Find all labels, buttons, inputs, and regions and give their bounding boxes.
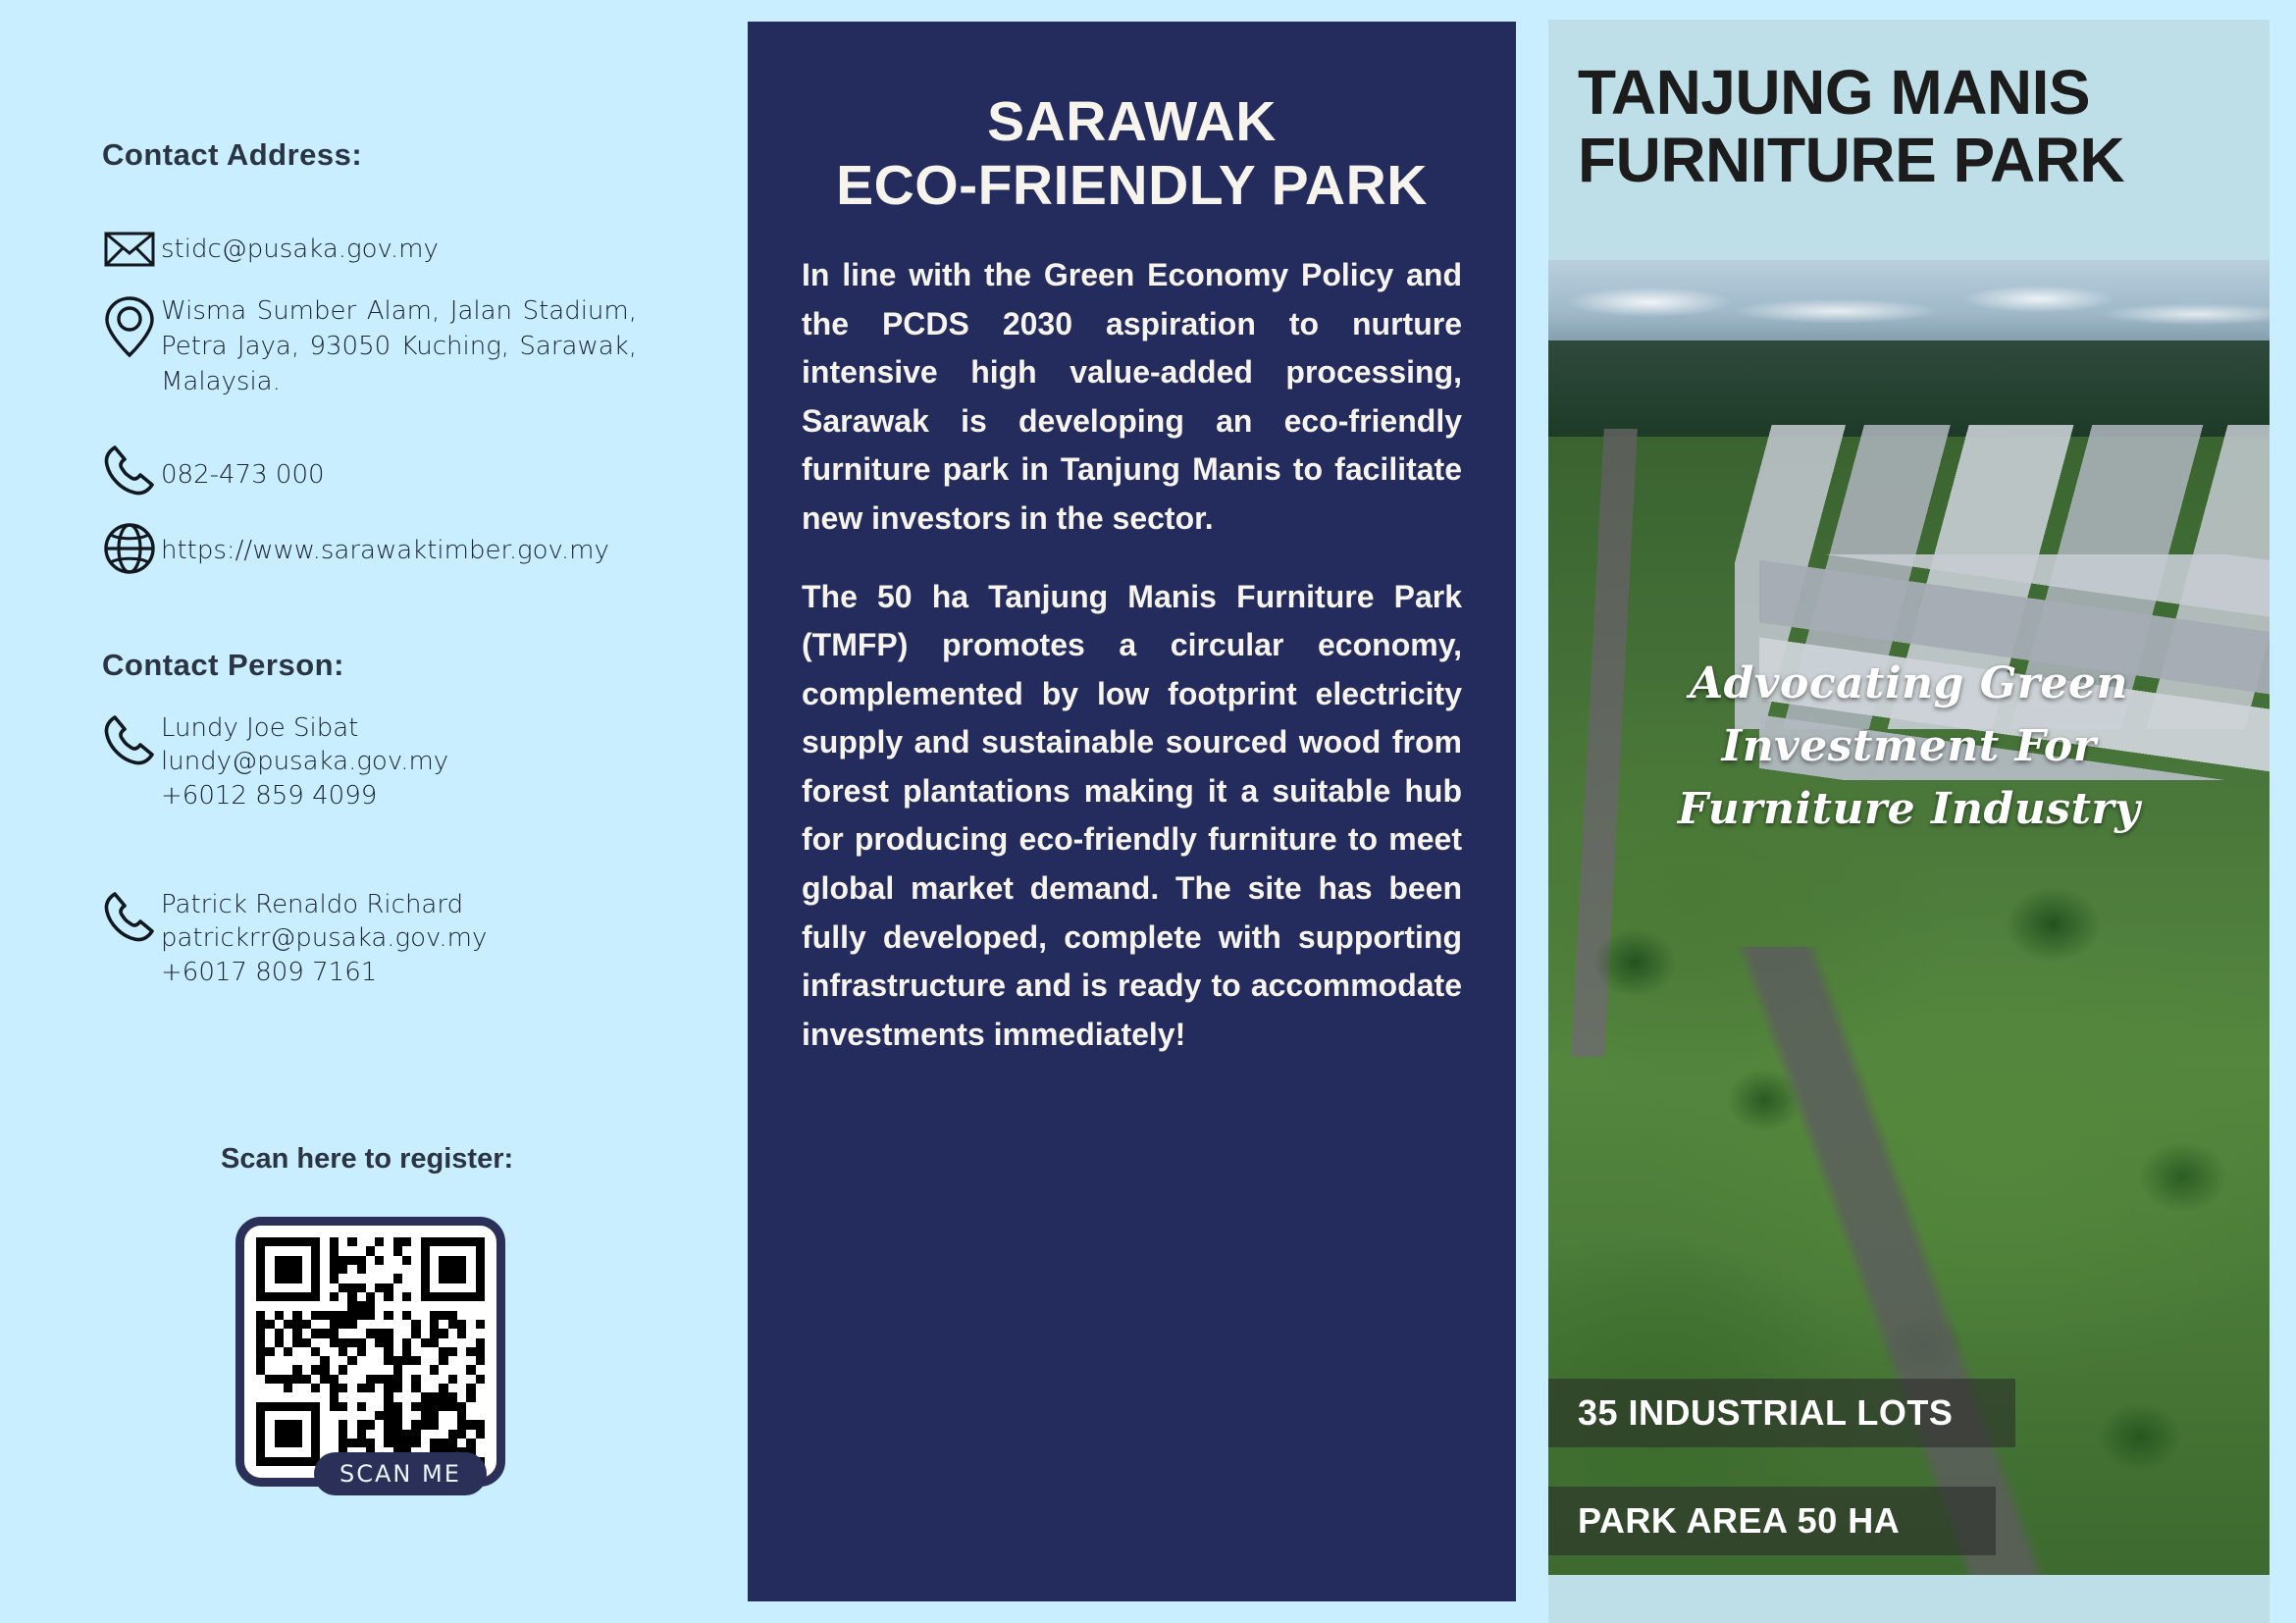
middle-title-line-1: SARAWAK bbox=[987, 90, 1277, 153]
fact-park-area: PARK AREA 50 HA bbox=[1548, 1487, 1996, 1555]
contact-person-1-text: Lundy Joe Sibat lundy@pusaka.gov.my +601… bbox=[161, 711, 448, 812]
middle-paragraph-2: The 50 ha Tanjung Manis Furniture Park (… bbox=[802, 573, 1462, 1060]
contact-phone-text: 082-473 000 bbox=[161, 442, 325, 494]
contact-website-row[interactable]: https://www.sarawaktimber.gov.my bbox=[98, 520, 609, 577]
phone-icon bbox=[98, 711, 161, 768]
contact-email-row[interactable]: stidc@pusaka.gov.my bbox=[98, 221, 439, 276]
tanjung-manis-cover-panel: TANJUNG MANIS FURNITURE PARK Advocating … bbox=[1548, 20, 2270, 1623]
cover-tagline: Advocating Green Investment For Furnitur… bbox=[1548, 653, 2270, 840]
contact-person-1-row[interactable]: Lundy Joe Sibat lundy@pusaka.gov.my +601… bbox=[98, 711, 448, 812]
contact-address-row: Wisma Sumber Alam, Jalan Stadium, Petra … bbox=[98, 294, 637, 400]
scan-me-badge: SCAN ME bbox=[314, 1452, 487, 1495]
middle-paragraph-1: In line with the Green Economy Policy an… bbox=[802, 251, 1462, 544]
tagline-line-1: Advocating Green Investment For bbox=[1690, 658, 2128, 771]
contact-website-text: https://www.sarawaktimber.gov.my bbox=[161, 520, 609, 569]
aerial-photo: Advocating Green Investment For Furnitur… bbox=[1548, 260, 2270, 1575]
middle-panel-title: SARAWAK ECO-FRIENDLY PARK bbox=[787, 90, 1477, 218]
qr-code-matrix bbox=[256, 1237, 485, 1466]
eco-friendly-park-panel: SARAWAK ECO-FRIENDLY PARK In line with t… bbox=[748, 22, 1516, 1601]
map-pin-icon bbox=[98, 294, 161, 359]
contact-person-2-text: Patrick Renaldo Richard patrickrr@pusaka… bbox=[161, 888, 487, 989]
contact-person-heading: Contact Person: bbox=[102, 648, 344, 683]
fact-industrial-lots: 35 INDUSTRIAL LOTS bbox=[1548, 1379, 2015, 1447]
contact-address-heading: Contact Address: bbox=[102, 137, 362, 173]
globe-icon bbox=[98, 520, 161, 577]
tagline-line-2: Furniture Industry bbox=[1548, 778, 2270, 841]
contact-panel: Contact Address: stidc@pusaka.gov.my Wis… bbox=[0, 0, 748, 1623]
scan-here-heading: Scan here to register: bbox=[221, 1143, 513, 1176]
photo-secondary-road bbox=[1642, 947, 2113, 1575]
middle-panel-body: In line with the Green Economy Policy an… bbox=[802, 251, 1462, 1060]
contact-person-2-row[interactable]: Patrick Renaldo Richard patrickrr@pusaka… bbox=[98, 888, 487, 989]
phone-icon bbox=[98, 442, 161, 498]
contact-address-text: Wisma Sumber Alam, Jalan Stadium, Petra … bbox=[161, 294, 637, 400]
contact-phone-row[interactable]: 082-473 000 bbox=[98, 442, 325, 498]
cover-title: TANJUNG MANIS FURNITURE PARK bbox=[1578, 59, 2270, 194]
envelope-icon bbox=[98, 221, 161, 276]
cover-title-line-2: FURNITURE PARK bbox=[1578, 127, 2270, 194]
qr-code[interactable] bbox=[235, 1217, 505, 1487]
phone-icon bbox=[98, 888, 161, 945]
middle-title-line-2: ECO-FRIENDLY PARK bbox=[787, 154, 1477, 218]
cover-title-line-1: TANJUNG MANIS bbox=[1578, 57, 2090, 128]
photo-clouds bbox=[1548, 278, 2270, 339]
contact-email-text: stidc@pusaka.gov.my bbox=[161, 221, 439, 268]
